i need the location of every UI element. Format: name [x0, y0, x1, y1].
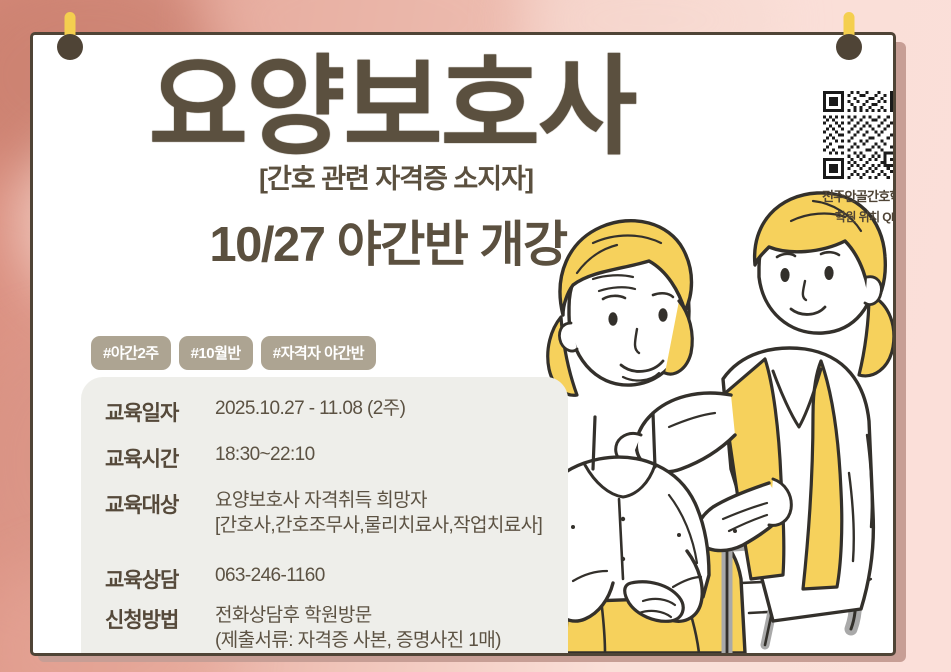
info-label: 신청방법	[105, 604, 215, 634]
course-start-headline: 10/27 야간반 개강	[33, 205, 733, 276]
info-value: 요양보호사 자격취득 희망자 [간호사,간호조무사,물리치료사,작업치료사]	[215, 489, 542, 538]
poster-card: 요양보호사 [간호 관련 자격증 소지자] 10/27 야간반 개강 #야간2주…	[30, 32, 896, 656]
info-value: 063-246-1160	[215, 564, 325, 589]
info-row-education-date: 교육일자 2025.10.27 - 11.08 (2주)	[81, 397, 568, 427]
pin-icon-right	[836, 12, 862, 60]
info-label: 교육일자	[105, 397, 215, 427]
course-info-panel: 교육일자 2025.10.27 - 11.08 (2주) 교육시간 18:30~…	[81, 377, 568, 656]
tag-pill: #자격자 야간반	[261, 336, 376, 370]
pin-head	[57, 34, 83, 60]
pin-icon-left	[57, 12, 83, 60]
pin-head	[836, 34, 862, 60]
tag-list: #야간2주 #10월반 #자격자 야간반	[91, 336, 376, 370]
info-row-contact: 교육상담 063-246-1160	[81, 564, 568, 594]
page-title: 요양보호사	[33, 35, 733, 161]
info-row-target-audience: 교육대상 요양보호사 자격취득 희망자 [간호사,간호조무사,물리치료사,작업치…	[81, 489, 568, 538]
info-row-education-time: 교육시간 18:30~22:10	[81, 443, 568, 473]
info-value: 2025.10.27 - 11.08 (2주)	[215, 397, 405, 422]
qr-code-icon	[823, 91, 896, 179]
tag-pill: #10월반	[179, 336, 253, 370]
qr-caption-academy-name: 전주안골간호학원	[811, 186, 896, 205]
info-value: 전화상담후 학원방문 (제출서류: 자격증 사본, 증명사진 1매)	[215, 604, 501, 653]
info-label: 교육대상	[105, 489, 215, 519]
qr-block: 전주안골간호학원 학원 위치 QR	[811, 91, 896, 225]
info-value: 18:30~22:10	[215, 443, 315, 468]
qr-caption-label: 학원 위치 QR	[811, 208, 896, 225]
tag-pill: #야간2주	[91, 336, 171, 370]
info-label: 교육상담	[105, 564, 215, 594]
info-row-application-method: 신청방법 전화상담후 학원방문 (제출서류: 자격증 사본, 증명사진 1매)	[81, 604, 568, 653]
headline-group: 요양보호사 [간호 관련 자격증 소지자] 10/27 야간반 개강	[33, 35, 733, 276]
info-label: 교육시간	[105, 443, 215, 473]
